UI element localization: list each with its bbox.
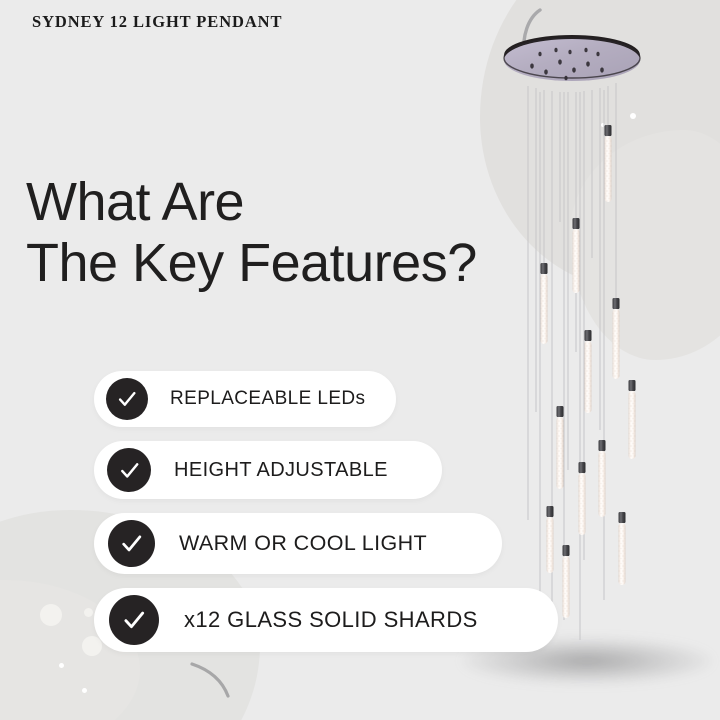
check-icon: [108, 520, 155, 567]
feature-pill-glass-solid-shards[interactable]: x12 GLASS SOLID SHARDS: [94, 588, 558, 652]
feature-pill-replaceable-leds[interactable]: REPLACEABLE LEDs: [94, 371, 396, 427]
main-heading: What Are The Key Features?: [26, 172, 477, 294]
feature-pill-warm-or-cool-light[interactable]: WARM OR COOL LIGHT: [94, 513, 502, 574]
feature-list: REPLACEABLE LEDs HEIGHT ADJUSTABLE WARM …: [94, 371, 558, 666]
canopy-arc-icon: [510, 4, 550, 60]
bokeh-dot: [601, 123, 605, 127]
check-icon: [107, 448, 151, 492]
poster-canvas: SYDNEY 12 LIGHT PENDANT What Are The Key…: [0, 0, 720, 720]
feature-label: WARM OR COOL LIGHT: [179, 531, 427, 556]
check-icon: [109, 595, 159, 645]
bokeh-dot: [59, 663, 64, 668]
feature-label: REPLACEABLE LEDs: [170, 388, 365, 410]
background-blob-top-right-small: [570, 130, 720, 360]
check-icon: [106, 378, 148, 420]
bokeh-dot: [84, 608, 93, 617]
feature-pill-height-adjustable[interactable]: HEIGHT ADJUSTABLE: [94, 441, 442, 499]
feature-label: HEIGHT ADJUSTABLE: [174, 459, 388, 482]
bokeh-dot: [630, 113, 636, 119]
bokeh-dot: [82, 688, 87, 693]
background-blob-top-right: [480, 0, 720, 290]
feature-label: x12 GLASS SOLID SHARDS: [184, 607, 478, 633]
page-title: SYDNEY 12 LIGHT PENDANT: [32, 12, 282, 32]
canopy: [504, 35, 640, 81]
bokeh-dot: [40, 604, 62, 626]
